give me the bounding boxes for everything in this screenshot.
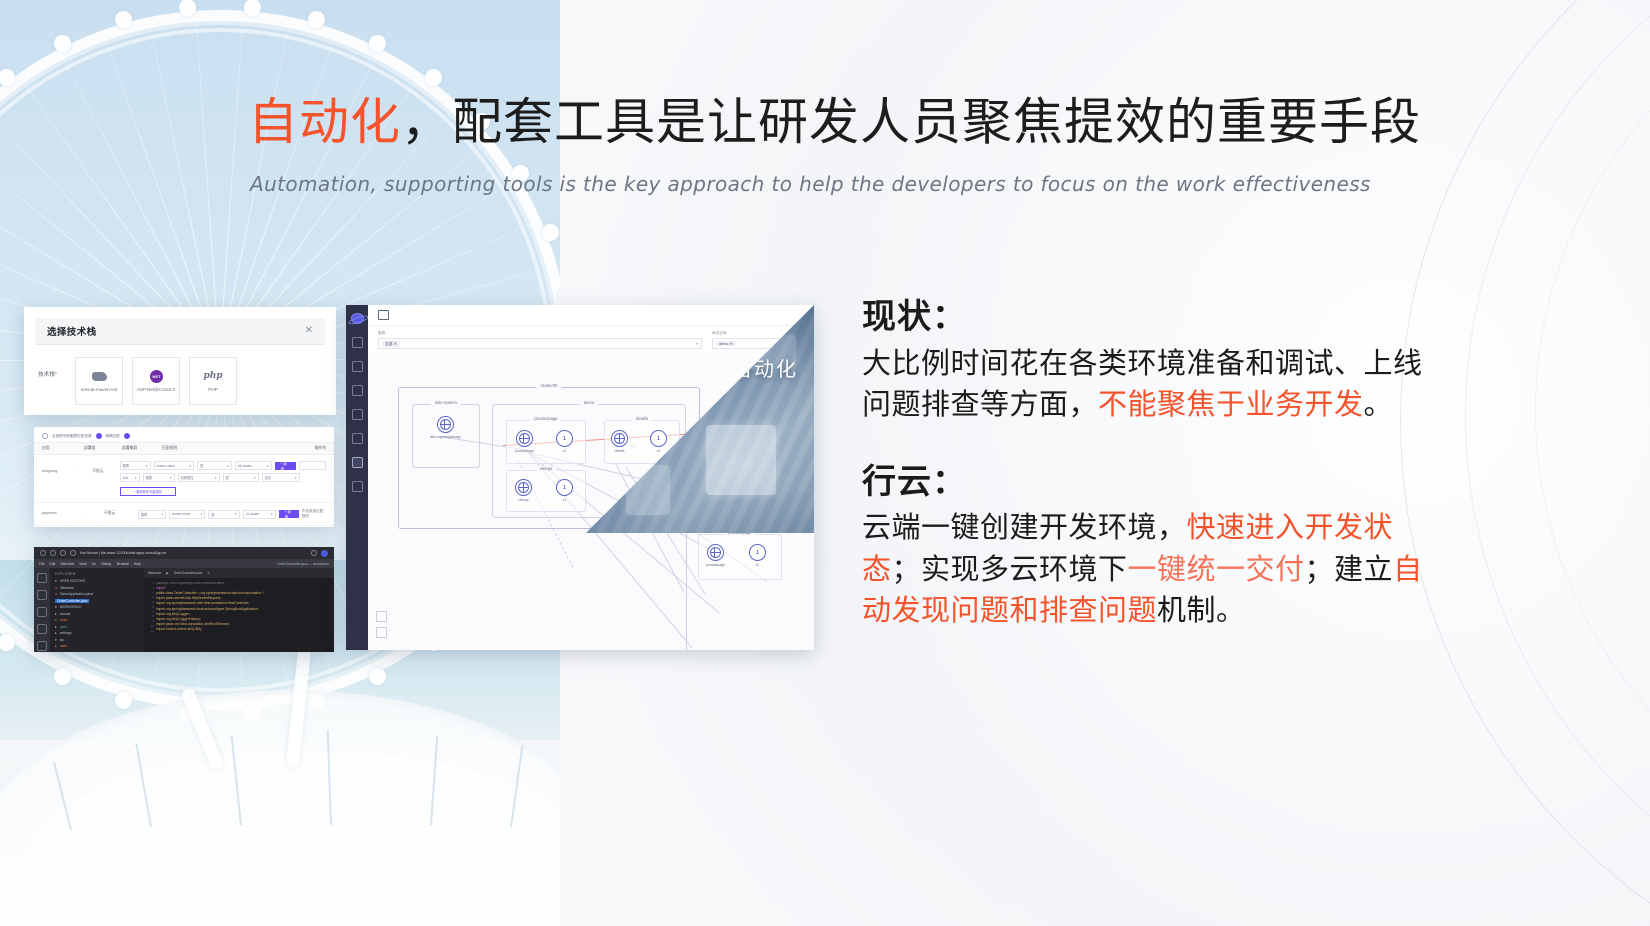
status-line-2: 问题排查等方面， bbox=[862, 387, 1098, 421]
editor-tabs: Welcome ▶ OrderController.java ✕ bbox=[144, 568, 334, 578]
stack-option-php[interactable]: php PHP bbox=[189, 357, 237, 405]
rule-join-select[interactable]: And▾ bbox=[120, 473, 140, 482]
explorer-panel: EXPLORER ▾OPEN EDITORS ●Welcome ●DemoApp… bbox=[50, 568, 144, 652]
cell-app: payment bbox=[42, 509, 76, 515]
topology-sidebar bbox=[346, 305, 368, 650]
xy-line2-red-a: 态 bbox=[862, 552, 892, 586]
table-row: shopping - 不限云 集群▾ cluster-name▾ 是▾ c5-c… bbox=[34, 455, 334, 503]
zoom-controls bbox=[376, 611, 387, 638]
node-productpage[interactable]: productpage bbox=[515, 430, 534, 453]
rule-op-select[interactable]: cluster-name▾ bbox=[154, 461, 195, 470]
bookmark-icon[interactable] bbox=[311, 550, 317, 556]
home-icon[interactable] bbox=[70, 550, 76, 556]
menu-debug[interactable]: Debug bbox=[101, 562, 111, 566]
mesh-icon[interactable] bbox=[352, 457, 363, 468]
cell-app: shopping bbox=[42, 461, 68, 473]
node-productpage-2[interactable]: productpage bbox=[706, 544, 725, 567]
service-caption: ratings bbox=[536, 466, 557, 471]
cell-cluster: 不限云 bbox=[92, 461, 113, 474]
list-item[interactable]: ●Welcome bbox=[55, 586, 139, 590]
menu-file[interactable]: File bbox=[39, 562, 44, 566]
activity-bar bbox=[34, 568, 50, 652]
filter-tag: demo ✕ bbox=[716, 341, 736, 346]
menu-help[interactable]: Help bbox=[134, 562, 141, 566]
cluster-caption: cluster06 bbox=[537, 383, 562, 388]
explorer-icon[interactable] bbox=[37, 573, 47, 583]
rule-key-select[interactable]: 集群▾ bbox=[120, 461, 151, 470]
node-label: v1 bbox=[657, 449, 661, 453]
extensions-icon[interactable] bbox=[37, 641, 47, 651]
list-view-icon[interactable] bbox=[378, 310, 389, 320]
xingyun-block: 行云： 云端一键创建开发环境，快速进入开发状 态；实现多云环境下一键统一交付；建… bbox=[862, 461, 1502, 631]
node-ratings[interactable]: ratings bbox=[515, 479, 532, 502]
xy-line3-red: 动发现问题和排查问题 bbox=[862, 593, 1157, 627]
rule-cmp-select[interactable]: 是▾ bbox=[223, 473, 259, 482]
status-tail: 。 bbox=[1364, 387, 1394, 421]
service-caption: productpage bbox=[530, 416, 561, 421]
node-label: productpage bbox=[706, 563, 725, 567]
search-icon[interactable] bbox=[37, 590, 47, 600]
dialog-title: 选择技术栈 bbox=[47, 324, 97, 338]
php-icon: php bbox=[205, 370, 221, 383]
tab-ordercontroller[interactable]: OrderController.java bbox=[174, 571, 203, 575]
cell-group: - bbox=[74, 461, 86, 473]
xy-line3-plain: 机制。 bbox=[1157, 593, 1246, 627]
ide-menu-bar: File Edit Selection View Go Debug Termin… bbox=[34, 559, 334, 568]
forward-icon[interactable] bbox=[50, 550, 56, 556]
menu-terminal[interactable]: Terminal bbox=[116, 562, 129, 566]
browser-url-bar: Not Secure | ide-order-12100d.test.apps.… bbox=[34, 547, 334, 559]
node-ratings-v1[interactable]: 1 v1 bbox=[556, 479, 573, 502]
screenshot-card-rules-form: 全部账号和集群匹配资源 精确匹配 应用 部署组 部署集群 匹配规则 操作列 sh… bbox=[34, 427, 334, 527]
col-group: 部署组 bbox=[84, 446, 122, 451]
url-text[interactable]: Not Secure | ide-order-12100d.test.apps.… bbox=[80, 551, 307, 555]
title-highlight: 自动化 bbox=[248, 93, 401, 151]
status-block: 现状： 大比例时间花在各类环境准备和调试、上线 问题排查等方面，不能聚焦于业务开… bbox=[862, 296, 1502, 425]
body-copy: 现状： 大比例时间花在各类环境准备和调试、上线 问题排查等方面，不能聚焦于业务开… bbox=[862, 296, 1502, 631]
service-caption: details bbox=[632, 416, 652, 421]
cell-cluster: 不限云 bbox=[104, 509, 132, 516]
code-area[interactable]: package com.xinyunbugs.order.weboontroll… bbox=[144, 578, 334, 632]
stack-option-aspnet[interactable]: .NET ASP.Net@Core2.0 bbox=[132, 357, 180, 405]
app-logo-icon bbox=[351, 313, 364, 324]
radio-all[interactable] bbox=[42, 433, 48, 439]
dialog-body: 技术栈* tomcat-maven-init .NET ASP.Net@Core… bbox=[24, 345, 336, 405]
filter-tag: 全部 ✕ bbox=[382, 341, 400, 347]
xy-line1-red: 快速进入开发状 bbox=[1187, 510, 1394, 544]
col-rules: 匹配规则 bbox=[162, 446, 315, 451]
close-icon[interactable]: ✕ bbox=[305, 326, 313, 336]
tree-item[interactable]: ▸settings bbox=[55, 631, 139, 635]
avatar[interactable] bbox=[321, 550, 328, 557]
rule-key-select[interactable]: 集群▾ bbox=[143, 473, 175, 482]
screenshot-card-tech-stack: 选择技术栈 ✕ 技术栈* tomcat-maven-init .NET ASP.… bbox=[24, 307, 336, 415]
col-cluster: 部署集群 bbox=[122, 446, 162, 451]
run-icon[interactable]: ▶ bbox=[166, 571, 168, 575]
rule-op-select[interactable]: 机房属性▾ bbox=[178, 473, 220, 482]
page-subtitle: Automation, supporting tools is the key … bbox=[250, 172, 1450, 196]
node-label: v1 bbox=[563, 449, 567, 453]
xingyun-paragraph: 云端一键创建开发环境，快速进入开发状 态；实现多云环境下一键统一交付；建立自 动… bbox=[862, 507, 1502, 631]
node-label: v1 bbox=[563, 498, 567, 502]
explorer-header: EXPLORER bbox=[55, 572, 139, 576]
tree-item[interactable]: ▸main bbox=[55, 644, 139, 648]
add-rule-button[interactable]: + 新增 bbox=[279, 510, 299, 518]
list-item-active[interactable]: OrderController.java bbox=[55, 599, 139, 603]
docker-whale-icon bbox=[91, 370, 107, 383]
xy-line2-red-c: 自 bbox=[1393, 552, 1423, 586]
stack-option-label: tomcat-maven-init bbox=[78, 387, 120, 393]
list-item[interactable]: ●DemoApplication.java bbox=[55, 592, 139, 596]
rule-op-select[interactable]: cluster-name▾ bbox=[169, 510, 205, 519]
node-label: productpage bbox=[515, 449, 534, 453]
reload-icon[interactable] bbox=[60, 550, 66, 556]
cluster-filter: 集群 全部 ✕ ▾ bbox=[378, 331, 702, 349]
rule-cmp-select[interactable]: 是▾ bbox=[208, 510, 239, 519]
namespace-caption: demo bbox=[580, 400, 598, 405]
node-details[interactable]: details bbox=[611, 430, 628, 453]
topology-toolbar bbox=[368, 305, 814, 326]
stack-option-label: ASP.Net@Core2.0 bbox=[135, 387, 177, 393]
row-hint: 不支持该匹配规则 bbox=[302, 509, 326, 519]
radio-exact[interactable] bbox=[96, 433, 102, 439]
namespace-caption: istio-system bbox=[431, 400, 461, 405]
node-label: istio-ingressgateway bbox=[430, 435, 461, 439]
screenshot-card-web-ide: Not Secure | ide-order-12100d.test.apps.… bbox=[34, 547, 334, 652]
node-istio-ingressgateway[interactable]: istio-ingressgateway bbox=[430, 416, 461, 439]
node-label: details bbox=[615, 449, 625, 453]
window-title: OrderController.java — workspace bbox=[277, 562, 329, 566]
rule-key-select[interactable]: 集群▾ bbox=[138, 510, 166, 519]
box-icon[interactable] bbox=[352, 385, 363, 396]
gear-icon[interactable] bbox=[352, 409, 363, 420]
dialog-header: 选择技术栈 ✕ bbox=[35, 318, 325, 345]
zoom-reset-icon[interactable] bbox=[376, 627, 387, 638]
xingyun-title: 行云： bbox=[862, 461, 1502, 504]
xy-line2-plain-a: ；实现多云环境下 bbox=[892, 552, 1128, 586]
rule-val-select[interactable]: c5-cluster▾ bbox=[235, 461, 272, 470]
node-label: ratings bbox=[518, 498, 528, 502]
title-rest: ，配套工具是让研发人员聚焦提效的重要手段 bbox=[401, 93, 1421, 151]
rule-val-select[interactable]: 混合▾ bbox=[262, 473, 300, 482]
stack-option-tomcat[interactable]: tomcat-maven-init bbox=[75, 357, 123, 405]
tree-item[interactable]: ▸vscode bbox=[55, 612, 139, 616]
tree-item[interactable]: ▾order bbox=[55, 618, 139, 622]
line-number: 11 bbox=[146, 629, 154, 634]
field-label: 技术栈* bbox=[38, 357, 66, 378]
dashboard-icon[interactable] bbox=[352, 361, 363, 372]
back-icon[interactable] bbox=[40, 550, 46, 556]
chevron-down-icon: ▾ bbox=[696, 341, 698, 346]
status-title: 现状： bbox=[862, 296, 1502, 339]
explorer-section-workspace[interactable]: ▾WORKSPACE bbox=[55, 605, 139, 609]
menu-view[interactable]: View bbox=[79, 562, 86, 566]
rule-cmp-select[interactable]: 是▾ bbox=[197, 461, 232, 470]
source-control-icon[interactable] bbox=[37, 607, 47, 617]
slide-canvas: 自动化，配套工具是让研发人员聚焦提效的重要手段 Automation, supp… bbox=[0, 0, 1650, 926]
editor-pane: Welcome ▶ OrderController.java ✕ 1234567… bbox=[144, 568, 334, 652]
menu-selection[interactable]: Selection bbox=[60, 562, 74, 566]
grid-icon[interactable] bbox=[352, 433, 363, 444]
match-mode-radios: 全部账号和集群匹配资源 精确匹配 bbox=[34, 427, 334, 442]
node-productpage-2-v1[interactable]: 1 v1 bbox=[749, 544, 766, 567]
radio-all-label: 全部账号和集群匹配资源 bbox=[52, 434, 92, 439]
status-line-1: 大比例时间花在各类环境准备和调试、上线 bbox=[862, 346, 1423, 380]
add-rule-button[interactable]: + 新增 bbox=[275, 462, 296, 470]
xy-line1-plain: 云端一键创建开发环境， bbox=[862, 510, 1187, 544]
code-line: import lombok.extern.slf4j.Slf4j; bbox=[156, 627, 330, 632]
xy-line2-plain-b: ；建立 bbox=[1305, 552, 1394, 586]
filter-label: 集群 bbox=[378, 331, 702, 336]
xy-line2-red-b: 一键统一交付 bbox=[1128, 552, 1305, 586]
cluster-select[interactable]: 全部 ✕ ▾ bbox=[378, 338, 702, 349]
help-icon[interactable] bbox=[124, 433, 130, 439]
dotnet-icon: .NET bbox=[148, 370, 164, 383]
status-paragraph: 大比例时间花在各类环境准备和调试、上线 问题排查等方面，不能聚焦于业务开发。 bbox=[862, 343, 1502, 425]
col-app: 应用 bbox=[42, 446, 84, 451]
debug-icon[interactable] bbox=[37, 624, 47, 634]
col-actions: 操作列 bbox=[315, 446, 326, 451]
close-icon[interactable]: ✕ bbox=[207, 571, 210, 575]
page-title: 自动化，配套工具是让研发人员聚焦提效的重要手段 bbox=[248, 93, 1428, 152]
status-highlight: 不能聚焦于业务开发 bbox=[1098, 387, 1364, 421]
line-numbers: 1234567891011 bbox=[146, 581, 154, 634]
stack-option-label: PHP bbox=[192, 387, 234, 393]
menu-edit[interactable]: Edit bbox=[49, 562, 55, 566]
zoom-fit-icon[interactable] bbox=[376, 611, 387, 622]
explorer-section-open-editors[interactable]: ▾OPEN EDITORS bbox=[55, 579, 139, 583]
tree-item[interactable]: ▾src bbox=[55, 638, 139, 642]
add-rule-group-link[interactable]: + 新增条件分组规则 bbox=[120, 487, 176, 496]
table-row: payment - 不限云 集群▾ cluster-name▾ 是▾ c3-cl… bbox=[34, 503, 334, 526]
tree-item[interactable]: ▸.java bbox=[55, 625, 139, 629]
cell-group: - bbox=[82, 509, 98, 515]
radio-exact-label: 精确匹配 bbox=[106, 434, 120, 439]
rule-val-select[interactable]: c3-cluster▾ bbox=[243, 510, 276, 519]
tab-welcome[interactable]: Welcome bbox=[148, 571, 161, 575]
search-input[interactable] bbox=[299, 461, 326, 470]
report-icon[interactable] bbox=[352, 481, 363, 492]
node-details-v1[interactable]: 1 v1 bbox=[650, 430, 667, 453]
ide-body: EXPLORER ▾OPEN EDITORS ●Welcome ●DemoApp… bbox=[34, 568, 334, 652]
table-header: 应用 部署组 部署集群 匹配规则 操作列 bbox=[34, 442, 334, 455]
node-productpage-v1[interactable]: 1 v1 bbox=[556, 430, 573, 453]
menu-go[interactable]: Go bbox=[92, 562, 97, 566]
node-label: v1 bbox=[756, 563, 760, 567]
topology-icon[interactable] bbox=[352, 337, 363, 348]
